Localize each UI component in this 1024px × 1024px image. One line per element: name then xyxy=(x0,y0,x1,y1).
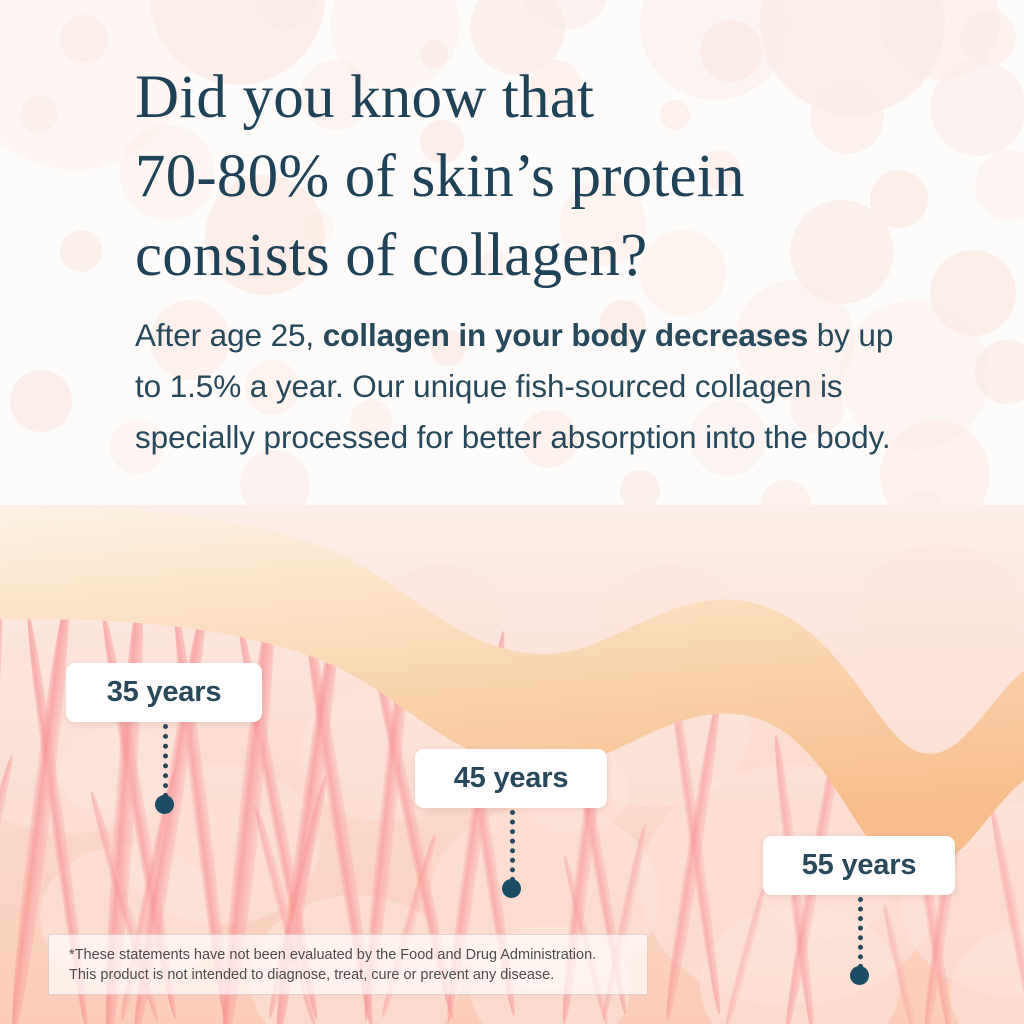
age-leader-line-35 xyxy=(163,724,168,798)
infographic-poster: Did you know that 70-80% of skin’s prote… xyxy=(0,0,1024,1024)
bubble-decor xyxy=(930,250,1016,336)
age-marker-dot-35 xyxy=(155,795,174,814)
headline-line-2: 70-80% of skin’s protein xyxy=(135,137,935,216)
age-label-55[interactable]: 55 years xyxy=(763,836,955,895)
bubble-decor xyxy=(10,370,72,432)
body-bold-phrase: collagen in your body decreases xyxy=(323,317,808,353)
headline-line-3: consists of collagen? xyxy=(135,216,935,295)
bubble-decor xyxy=(960,10,1016,66)
page-title: Did you know that 70-80% of skin’s prote… xyxy=(135,58,935,295)
headline-line-1: Did you know that xyxy=(135,58,935,137)
age-marker-dot-45 xyxy=(502,879,521,898)
age-leader-line-45 xyxy=(510,810,515,882)
bubble-decor xyxy=(20,95,58,133)
bubble-decor xyxy=(520,0,610,30)
disclaimer-box: *These statements have not been evaluate… xyxy=(48,934,648,995)
bubble-decor xyxy=(60,15,108,63)
disclaimer-line-1: *These statements have not been evaluate… xyxy=(69,945,647,965)
body-paragraph: After age 25, collagen in your body decr… xyxy=(135,310,910,463)
age-label-45[interactable]: 45 years xyxy=(415,749,607,808)
bubble-decor xyxy=(255,0,315,30)
bubble-decor xyxy=(975,150,1024,220)
body-segment-1: After age 25, xyxy=(135,317,323,353)
bubble-decor xyxy=(60,230,102,272)
bubble-decor xyxy=(930,60,1024,156)
bubble-decor xyxy=(975,340,1024,404)
disclaimer-line-2: This product is not intended to diagnose… xyxy=(69,965,647,985)
age-leader-line-55 xyxy=(858,897,863,969)
age-label-35[interactable]: 35 years xyxy=(66,663,262,722)
age-marker-dot-55 xyxy=(850,966,869,985)
